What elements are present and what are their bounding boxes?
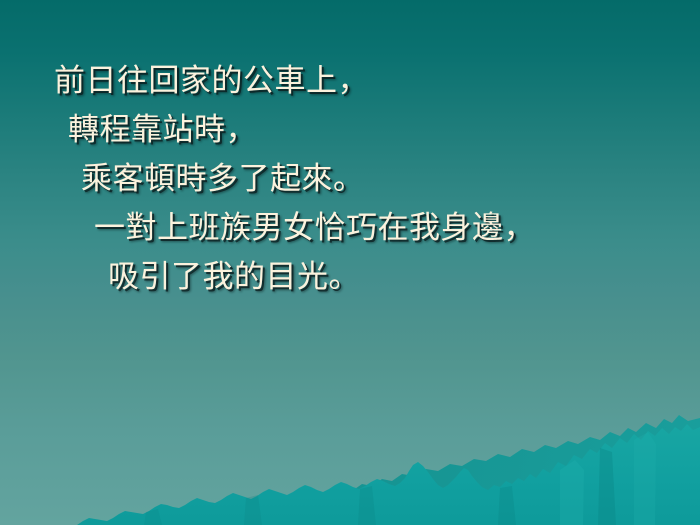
presentation-slide: 前日往回家的公車上， 轉程靠站時， 乘客頓時多了起來。 一對上班族男女恰巧在我身… — [0, 0, 700, 525]
slide-text-line-1: 前日往回家的公車上， — [54, 66, 369, 97]
slide-text-line-4: 一對上班族男女恰巧在我身邊， — [94, 213, 535, 244]
slide-text-line-5: 吸引了我的目光。 — [108, 262, 360, 293]
slide-text-line-2: 轉程靠站時， — [68, 115, 257, 146]
slide-text-body: 前日往回家的公車上， 轉程靠站時， 乘客頓時多了起來。 一對上班族男女恰巧在我身… — [0, 0, 700, 525]
slide-text-line-3: 乘客頓時多了起來。 — [81, 164, 365, 195]
